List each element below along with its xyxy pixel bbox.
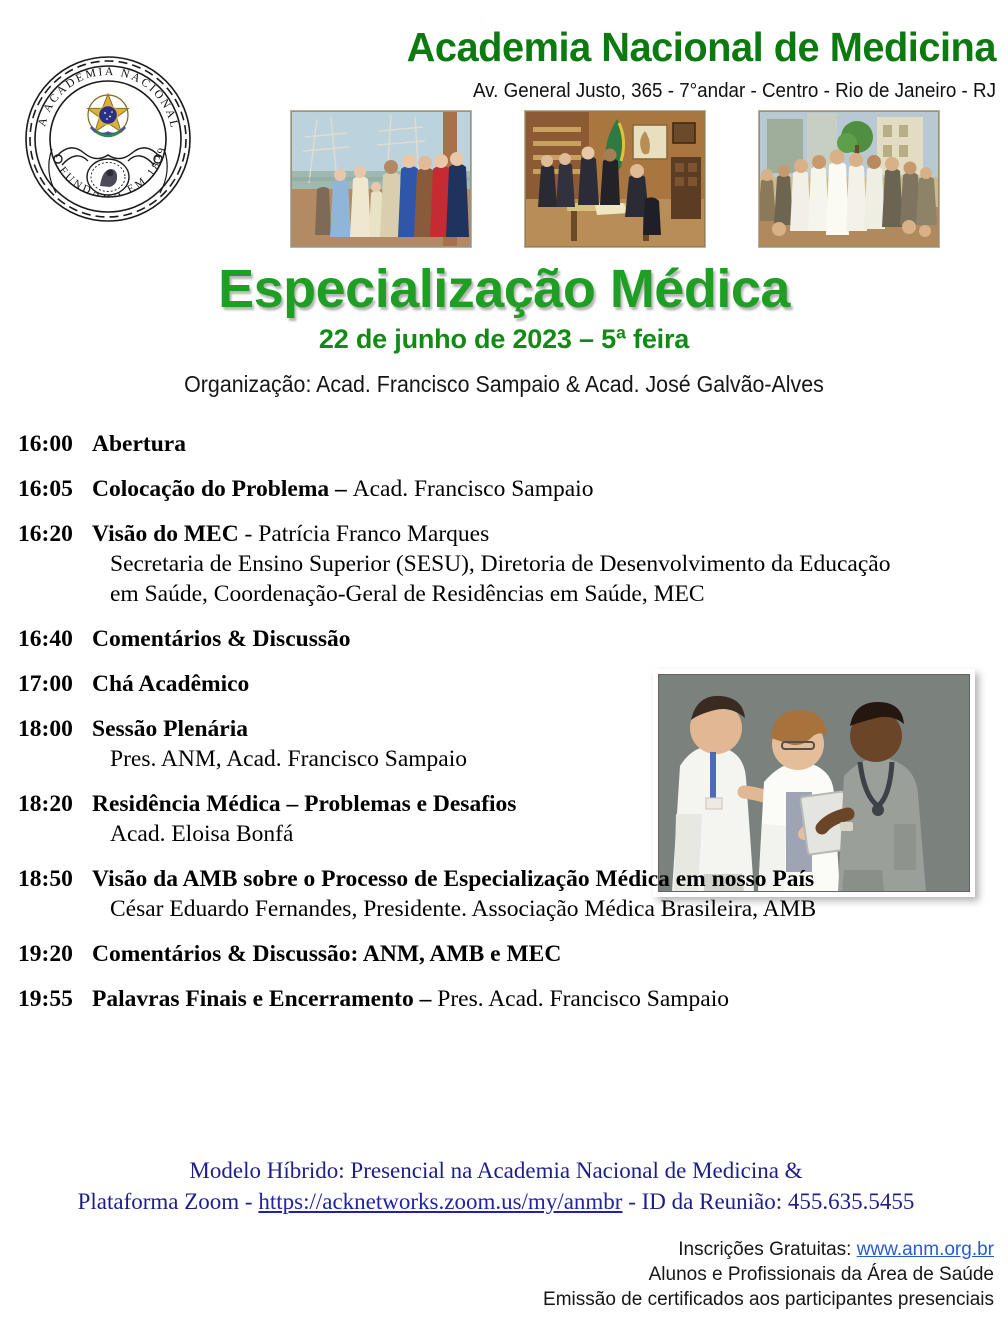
event-date: 22 de junho de 2023 – 5ª feira: [0, 322, 1008, 356]
schedule-item-time: 18:50: [18, 864, 92, 894]
schedule-item-main: 16:05Colocação do Problema – Acad. Franc…: [18, 474, 994, 504]
registration-info: Inscrições Gratuitas: www.anm.org.br Alu…: [543, 1237, 994, 1312]
schedule-item-detail: César Eduardo Fernandes, Presidente. Ass…: [18, 894, 994, 924]
schedule-item: 18:50Visão da AMB sobre o Processo de Es…: [18, 864, 994, 924]
certificates-line: Emissão de certificados aos participante…: [543, 1287, 994, 1312]
zoom-meeting-link[interactable]: https://acknetworks.zoom.us/my/anmbr: [258, 1189, 622, 1214]
hybrid-line-2: Plataforma Zoom - https://acknetworks.zo…: [0, 1186, 992, 1217]
schedule-item-title: Visão da AMB sobre o Processo de Especia…: [92, 866, 814, 892]
schedule-item-speaker: Acad. Francisco Sampaio: [353, 476, 594, 502]
schedule-item-time: 19:20: [18, 939, 92, 969]
schedule-item-title: Residência Médica – Problemas e Desafios: [92, 791, 516, 817]
schedule-item-main: 17:00Chá Acadêmico: [18, 669, 994, 699]
registration-line: Inscrições Gratuitas: www.anm.org.br: [543, 1237, 994, 1262]
event-organizers: Organização: Acad. Francisco Sampaio & A…: [35, 369, 972, 399]
page-title: Especialização Médica: [0, 258, 1008, 320]
header-paintings: [290, 110, 940, 246]
schedule-item-detail: Pres. ANM, Acad. Francisco Sampaio: [18, 744, 994, 774]
hybrid-line-1: Modelo Híbrido: Presencial na Academia N…: [189, 1158, 802, 1183]
schedule-item-main: 18:20Residência Médica – Problemas e Des…: [18, 789, 994, 819]
schedule-item-time: 16:05: [18, 474, 92, 504]
schedule-list: 16:00Abertura16:05Colocação do Problema …: [0, 429, 1008, 1014]
schedule-item-time: 18:20: [18, 789, 92, 819]
institution-title: Academia Nacional de Medicina: [30, 24, 996, 70]
institution-address: Av. General Justo, 365 - 7°andar - Centr…: [60, 78, 996, 104]
schedule-item-time: 17:00: [18, 669, 92, 699]
schedule-item-main: 18:00Sessão Plenária: [18, 714, 994, 744]
schedule-item-main: 19:55Palavras Finais e Encerramento – Pr…: [18, 984, 994, 1014]
schedule-item-title: Colocação do Problema –: [92, 476, 353, 502]
schedule-item-time: 16:40: [18, 624, 92, 654]
schedule-item-detail: Secretaria de Ensino Superior (SESU), Di…: [18, 549, 994, 579]
painting-founding-session: [524, 110, 706, 248]
schedule-item-detail: em Saúde, Coordenação-Geral de Residênci…: [18, 579, 994, 609]
schedule-item: 17:00Chá Acadêmico: [18, 669, 994, 699]
schedule-item: 19:20Comentários & Discussão: ANM, AMB e…: [18, 939, 994, 969]
schedule-item-title: Sessão Plenária: [92, 716, 248, 742]
hybrid-model-info: Modelo Híbrido: Presencial na Academia N…: [0, 1155, 992, 1217]
painting-port-arrival: [290, 110, 472, 248]
schedule-item-time: 19:55: [18, 984, 92, 1014]
schedule-item: 16:20Visão do MEC - Patrícia Franco Marq…: [18, 519, 994, 609]
schedule-item-time: 18:00: [18, 714, 92, 744]
schedule-item-title: Abertura: [92, 431, 186, 457]
painting-physicians-group: [758, 110, 940, 248]
schedule-item-main: 16:00Abertura: [18, 429, 994, 459]
schedule-item-speaker: Pres. Acad. Francisco Sampaio: [437, 986, 729, 1012]
schedule-item: 16:00Abertura: [18, 429, 994, 459]
schedule-item-main: 18:50Visão da AMB sobre o Processo de Es…: [18, 864, 994, 894]
schedule-item-title: Visão do MEC: [92, 521, 239, 547]
page-header: A ACADEMIA NACIONAL DE MEDICINA FUNDADA …: [0, 0, 1008, 250]
schedule-item: 16:05Colocação do Problema – Acad. Franc…: [18, 474, 994, 504]
meeting-id-label: - ID da Reunião: 455.635.5455: [622, 1189, 914, 1214]
schedule-item-detail: Acad. Eloisa Bonfá: [18, 819, 994, 849]
schedule-item-main: 19:20Comentários & Discussão: ANM, AMB e…: [18, 939, 994, 969]
schedule-item: 18:20Residência Médica – Problemas e Des…: [18, 789, 994, 849]
schedule-item-time: 16:00: [18, 429, 92, 459]
schedule-item-main: 16:20Visão do MEC - Patrícia Franco Marq…: [18, 519, 994, 549]
audience-line: Alunos e Profissionais da Área de Saúde: [543, 1262, 994, 1287]
schedule-item: 18:00Sessão PlenáriaPres. ANM, Acad. Fra…: [18, 714, 994, 774]
schedule-item-title: Comentários & Discussão: [92, 626, 351, 652]
schedule-item-time: 16:20: [18, 519, 92, 549]
schedule-item-title: Chá Acadêmico: [92, 671, 249, 697]
schedule-item-main: 16:40Comentários & Discussão: [18, 624, 994, 654]
schedule-item: 16:40Comentários & Discussão: [18, 624, 994, 654]
registration-label: Inscrições Gratuitas:: [678, 1239, 856, 1260]
schedule-item-title: Palavras Finais e Encerramento –: [92, 986, 437, 1012]
anm-website-link[interactable]: www.anm.org.br: [857, 1239, 994, 1260]
schedule-item-speaker: - Patrícia Franco Marques: [239, 521, 490, 547]
schedule-item-title: Comentários & Discussão: ANM, AMB e MEC: [92, 941, 561, 967]
schedule-item: 19:55Palavras Finais e Encerramento – Pr…: [18, 984, 994, 1014]
zoom-platform-label: Plataforma Zoom -: [78, 1189, 259, 1214]
